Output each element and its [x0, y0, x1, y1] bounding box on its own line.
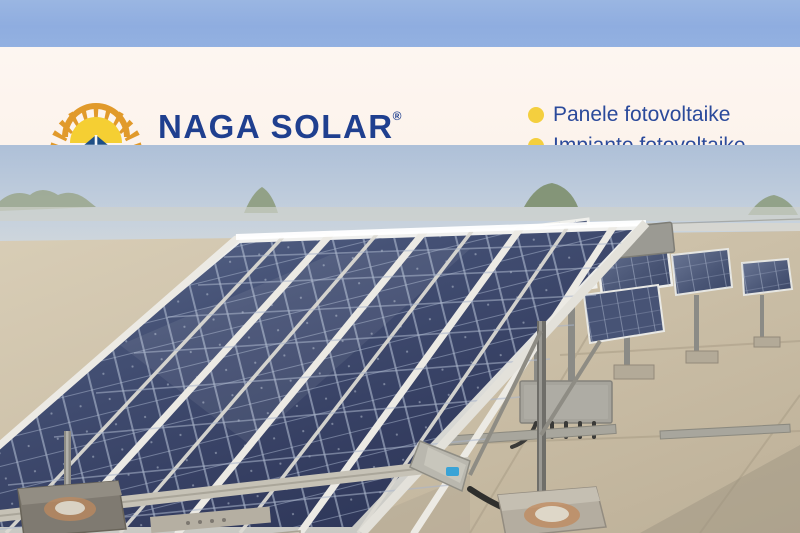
- feature-label: Panele fotovoltaike: [553, 104, 730, 126]
- rooftop-solar-array-photo: [0, 145, 800, 533]
- brand-banner: NAGA SOLAR® Dielli juaj Panele fotovolta…: [0, 47, 800, 145]
- registered-trademark-icon: ®: [393, 109, 402, 123]
- sky-backdrop-strip: [0, 0, 800, 48]
- brand-name: NAGA SOLAR®: [158, 103, 420, 146]
- dot-bullet-icon: [528, 107, 544, 123]
- brand-name-text: NAGA SOLAR: [158, 108, 394, 145]
- solar-company-banner-page: NAGA SOLAR® Dielli juaj Panele fotovolta…: [0, 0, 800, 533]
- feature-item: Panele fotovoltaike: [528, 99, 796, 130]
